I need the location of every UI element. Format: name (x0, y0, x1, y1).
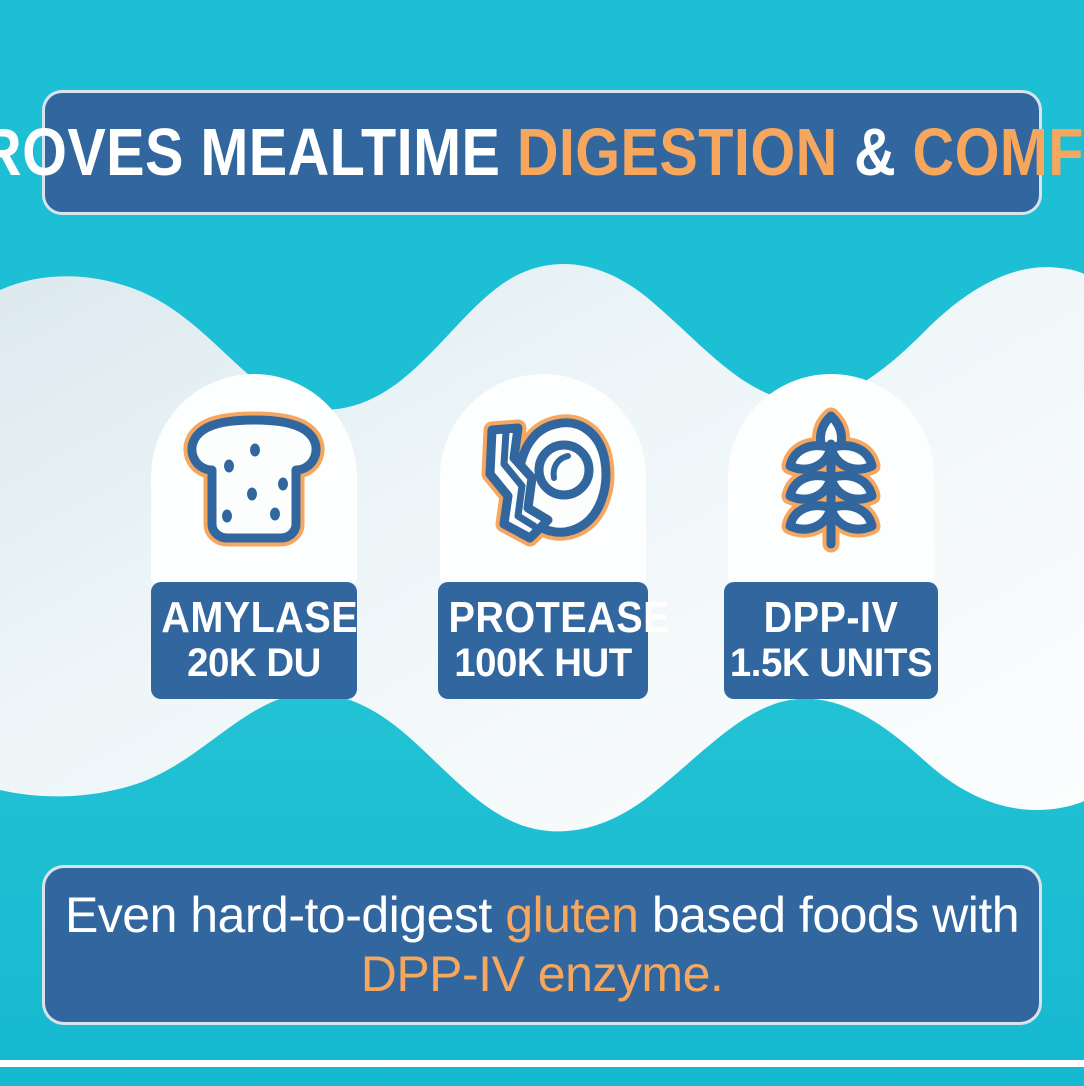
enzyme-card-dppiv[interactable]: DPP-IV 1.5K UNITS (728, 374, 934, 699)
footer-banner: Even hard-to-digest gluten based foods w… (42, 865, 1042, 1025)
card-name-amylase: AMYLASE (161, 596, 346, 639)
bread-slice-icon (179, 404, 329, 554)
card-label-dppiv: DPP-IV 1.5K UNITS (724, 582, 938, 699)
footer-highlight-gluten: gluten (505, 887, 638, 943)
card-arch-dppiv (728, 374, 934, 584)
card-name-protease: PROTEASE (449, 596, 638, 639)
card-value-protease: 100K HUT (442, 643, 644, 683)
card-label-amylase: AMYLASE 20K DU (151, 582, 357, 699)
bacon-and-egg-icon (468, 404, 618, 554)
enzyme-card-amylase[interactable]: AMYLASE 20K DU (151, 374, 357, 699)
card-value-amylase: 20K DU (155, 643, 353, 683)
bottom-divider (0, 1060, 1084, 1067)
footer-part-1: Even hard-to-digest (65, 887, 505, 943)
footer-caption: Even hard-to-digest gluten based foods w… (45, 886, 1039, 1004)
wheat-stalk-icon (756, 404, 906, 554)
footer-highlight-dppiv: DPP-IV enzyme. (361, 946, 724, 1002)
card-name-dppiv: DPP-IV (735, 596, 928, 639)
card-arch-amylase (151, 374, 357, 584)
enzyme-card-protease[interactable]: PROTEASE 100K HUT (440, 374, 646, 699)
card-arch-protease (440, 374, 646, 584)
footer-part-3: based foods with (638, 887, 1019, 943)
card-label-protease: PROTEASE 100K HUT (438, 582, 648, 699)
infographic-canvas: IMPROVES MEALTIME DIGESTION & COMFORT (0, 0, 1084, 1086)
card-value-dppiv: 1.5K UNITS (728, 643, 933, 683)
